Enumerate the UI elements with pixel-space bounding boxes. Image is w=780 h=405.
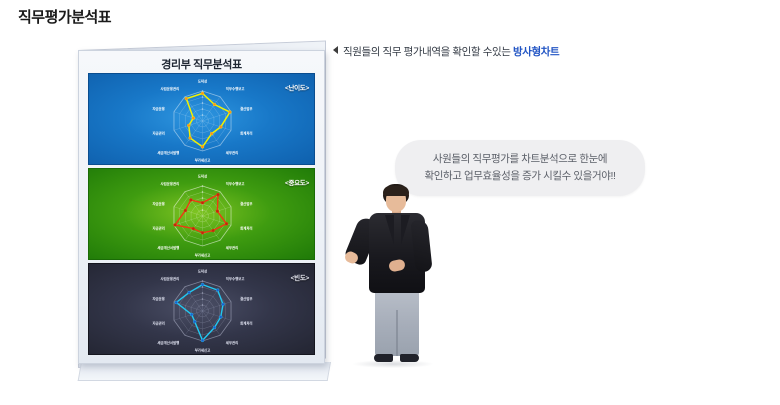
person-left-shoe: [374, 354, 393, 362]
svg-text:회계처리: 회계처리: [240, 130, 252, 135]
speech-bubble-line-2: 확인하고 업무효율성을 증가 시킬수 있을거야!!: [424, 168, 615, 185]
radar-svg-frequency: 도덕성직무수행보고결산업무회계처리세무관리부가세신고세금계산서발행자금관리자금운…: [89, 264, 315, 355]
svg-text:도덕성: 도덕성: [198, 79, 207, 84]
page-title: 직무평가분석표: [18, 6, 111, 27]
svg-text:회계처리: 회계처리: [240, 225, 252, 230]
svg-text:자금운용: 자금운용: [152, 296, 164, 301]
svg-text:부가세신고: 부가세신고: [195, 348, 211, 353]
chart-tag-frequency: <빈도>: [291, 272, 309, 282]
triangle-left-icon: [333, 46, 338, 54]
svg-text:세금계산서발행: 세금계산서발행: [157, 340, 179, 345]
panel-title: 경리부 직무분석표: [79, 56, 324, 72]
svg-text:세무관리: 세무관리: [226, 150, 238, 155]
chart-panel: 경리부 직무분석표 도덕성직무수행보고결산업무회계처리세무관리부가세신고세금계산…: [78, 50, 328, 370]
svg-text:직무수행보고: 직무수행보고: [226, 181, 245, 186]
svg-text:직무수행보고: 직무수행보고: [226, 276, 245, 281]
svg-text:부가세신고: 부가세신고: [195, 158, 211, 163]
chart-tag-importance: <중요도>: [285, 177, 309, 187]
svg-text:도덕성: 도덕성: [198, 174, 207, 179]
chart-tag-difficulty: <난이도>: [285, 82, 309, 92]
svg-text:사업운용관리: 사업운용관리: [161, 181, 180, 186]
svg-text:결산업무: 결산업무: [240, 201, 253, 206]
svg-text:세무관리: 세무관리: [226, 340, 238, 345]
person-jacket-lapel-left: [385, 215, 394, 245]
svg-text:세무관리: 세무관리: [226, 245, 238, 250]
svg-text:자금운용: 자금운용: [152, 106, 164, 111]
panel-3d-bottom: [78, 362, 331, 381]
svg-text:자금운용: 자금운용: [152, 201, 164, 206]
speech-bubble-line-1: 사원들의 직무평가를 차트분석으로 한눈에: [433, 151, 607, 168]
svg-text:직무수행보고: 직무수행보고: [226, 86, 245, 91]
radar-chart-importance[interactable]: 도덕성직무수행보고결산업무회계처리세무관리부가세신고세금계산서발행자금관리자금운…: [88, 168, 315, 260]
panel-front-face: 경리부 직무분석표 도덕성직무수행보고결산업무회계처리세무관리부가세신고세금계산…: [78, 50, 325, 364]
person-fringe: [383, 186, 409, 196]
svg-text:회계처리: 회계처리: [240, 320, 252, 325]
svg-text:도덕성: 도덕성: [198, 269, 207, 274]
svg-text:사업운용관리: 사업운용관리: [161, 276, 180, 281]
radar-chart-list: 도덕성직무수행보고결산업무회계처리세무관리부가세신고세금계산서발행자금관리자금운…: [88, 73, 315, 358]
person-illustration: [345, 182, 449, 368]
caption-text: 직원들의 직무 평가내역을 확인할 수있는: [343, 46, 513, 58]
radar-chart-frequency[interactable]: 도덕성직무수행보고결산업무회계처리세무관리부가세신고세금계산서발행자금관리자금운…: [88, 263, 315, 355]
radar-svg-importance: 도덕성직무수행보고결산업무회계처리세무관리부가세신고세금계산서발행자금관리자금운…: [89, 169, 315, 260]
svg-text:부가세신고: 부가세신고: [195, 253, 211, 258]
radar-chart-difficulty[interactable]: 도덕성직무수행보고결산업무회계처리세무관리부가세신고세금계산서발행자금관리자금운…: [88, 73, 315, 165]
caption: 직원들의 직무 평가내역을 확인할 수있는 방사형차트: [333, 44, 559, 59]
radar-svg-difficulty: 도덕성직무수행보고결산업무회계처리세무관리부가세신고세금계산서발행자금관리자금운…: [89, 74, 315, 165]
svg-text:자금관리: 자금관리: [152, 320, 164, 325]
svg-text:세금계산서발행: 세금계산서발행: [157, 150, 179, 155]
svg-text:결산업무: 결산업무: [240, 106, 253, 111]
svg-text:세금계산서발행: 세금계산서발행: [157, 245, 179, 250]
svg-text:자금관리: 자금관리: [152, 225, 164, 230]
person-jacket-lapel-right: [401, 215, 410, 245]
person-right-shoe: [400, 354, 419, 362]
person-trouser-seam: [396, 310, 398, 356]
svg-text:결산업무: 결산업무: [240, 296, 253, 301]
svg-text:자금관리: 자금관리: [152, 130, 164, 135]
svg-text:사업운용관리: 사업운용관리: [161, 86, 180, 91]
caption-highlight: 방사형차트: [513, 46, 559, 58]
person-shadow: [353, 360, 433, 368]
